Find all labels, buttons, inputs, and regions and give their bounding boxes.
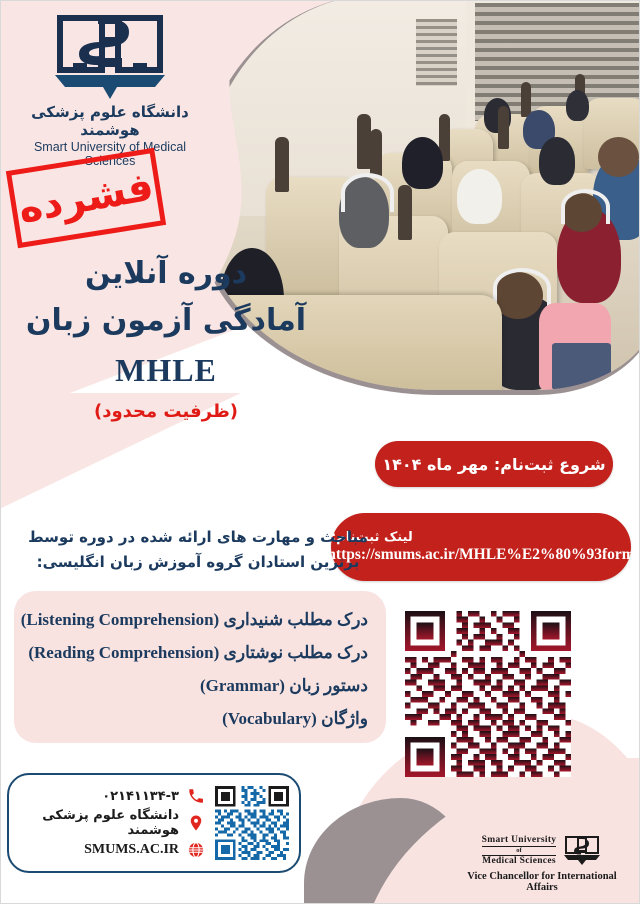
university-logo-header: دانشگاه علوم پزشکی هوشمند Smart Universi…	[19, 9, 201, 168]
stamp-label: فشرده	[16, 167, 157, 230]
registration-qr-code[interactable]	[405, 611, 571, 777]
registration-date-label: شروع ثبت‌نام: مهر ماه ۱۴۰۴	[382, 455, 605, 474]
skill-label-fa: دستور زبان	[289, 676, 368, 695]
skill-item: واژگان (Vocabulary)	[14, 702, 368, 735]
skill-label-en: (Listening Comprehension)	[21, 610, 220, 629]
book-caduceus-icon	[562, 834, 602, 868]
registration-date-badge: شروع ثبت‌نام: مهر ماه ۱۴۰۴	[375, 441, 613, 487]
skill-label-en: (Vocabulary)	[222, 709, 317, 728]
contact-phone-row: ۰۲۱۴۱۱۳۴-۳	[19, 783, 205, 810]
course-intro-text: مباحث و مهارت های ارائه شده در دوره توسط…	[9, 525, 387, 575]
headline-block: دوره آنلاین آمادگی آزمون زبان MHLE (ظرفی…	[1, 251, 331, 422]
skills-panel: درک مطلب شنیداری (Listening Comprehensio…	[14, 591, 386, 743]
contact-location-row: دانشگاه علوم پزشکی هوشمند	[19, 810, 205, 837]
contact-website-row[interactable]: SMUMS.AC.IR	[19, 837, 205, 864]
headline-line-2: آمادگی آزمون زبان	[1, 298, 331, 345]
exam-name: MHLE	[1, 352, 331, 389]
capacity-note: (ظرفیت محدود)	[1, 401, 331, 422]
footer-logo-subtitle: Vice Chancellor for International Affair…	[453, 871, 631, 893]
skill-label-fa: درک مطلب شنیداری	[223, 610, 368, 629]
contact-card: ۰۲۱۴۱۱۳۴-۳ دانشگاه علوم پزشکی هوشمند SMU…	[7, 773, 301, 873]
skill-item: درک مطلب نوشتاری (Reading Comprehension)	[14, 636, 368, 669]
headline-line-1: دوره آنلاین	[1, 251, 331, 298]
location-pin-icon	[187, 814, 205, 832]
intro-line-1: مباحث و مهارت های ارائه شده در دوره توسط	[9, 525, 387, 550]
skill-label-fa: درک مطلب نوشتاری	[224, 643, 368, 662]
contact-website[interactable]: SMUMS.AC.IR	[84, 842, 179, 858]
skill-item: درک مطلب شنیداری (Listening Comprehensio…	[14, 603, 368, 636]
contact-phone: ۰۲۱۴۱۱۳۴-۳	[102, 789, 179, 804]
footer-logo-line-2: of	[482, 846, 557, 856]
book-caduceus-icon	[35, 9, 185, 101]
intro-line-2: برترین استادان گروه آموزش زبان انگلیسی:	[9, 550, 387, 575]
skill-label-en: (Reading Comprehension)	[28, 643, 219, 662]
logo-name-fa: دانشگاه علوم پزشکی هوشمند	[19, 103, 201, 139]
footer-logo-line-3: Medical Sciences	[482, 856, 557, 867]
footer-logo-line-1: Smart University	[482, 835, 557, 846]
contact-location: دانشگاه علوم پزشکی هوشمند	[19, 808, 179, 838]
poster-canvas: دانشگاه علوم پزشکی هوشمند Smart Universi…	[0, 0, 640, 904]
globe-icon	[187, 841, 205, 859]
footer-logo: Smart University of Medical Sciences Vic…	[453, 834, 631, 893]
contact-qr-code[interactable]	[215, 786, 289, 860]
phone-icon	[187, 787, 205, 805]
skill-label-en: (Grammar)	[200, 676, 285, 695]
skill-label-fa: واژگان	[321, 709, 368, 728]
skill-item: دستور زبان (Grammar)	[14, 669, 368, 702]
